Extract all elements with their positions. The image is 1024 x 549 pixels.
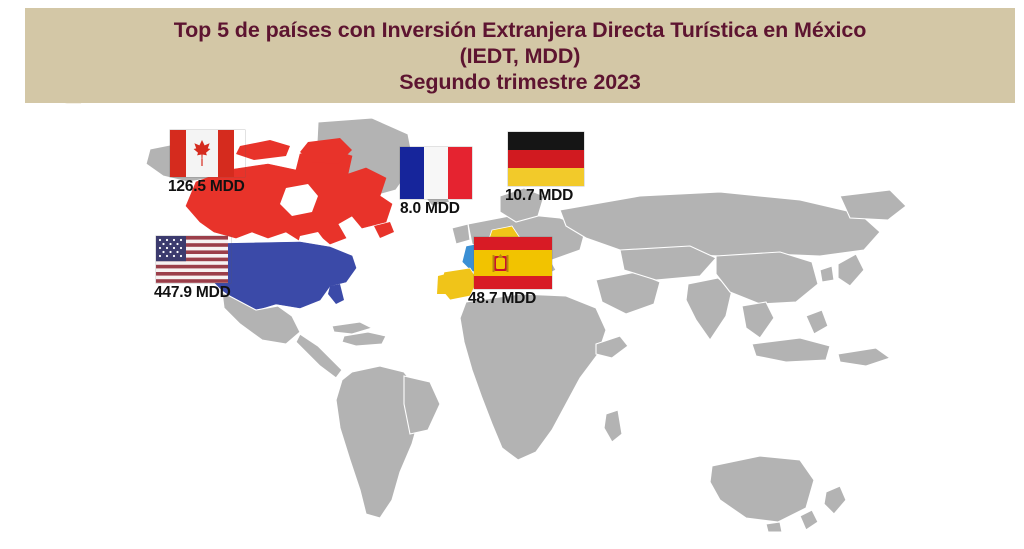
france-value-label: 8.0 MDD xyxy=(400,200,472,217)
title-line-1: Top 5 de países con Inversión Extranjera… xyxy=(174,17,867,43)
portugal xyxy=(437,274,446,294)
usa-value-label: 447.9 MDD xyxy=(154,284,231,301)
spain-value-label: 48.7 MDD xyxy=(468,290,552,307)
canada-value-label: 126.5 MDD xyxy=(168,178,245,195)
marker-france[interactable]: 8.0 MDD xyxy=(400,147,472,217)
spain-coat-of-arms xyxy=(493,254,509,272)
marker-usa[interactable]: 447.9 MDD xyxy=(156,236,231,301)
germany-value-label: 10.7 MDD xyxy=(505,187,584,204)
marker-spain[interactable]: 48.7 MDD xyxy=(474,237,552,307)
title-line-3: Segundo trimestre 2023 xyxy=(399,69,641,95)
marker-canada[interactable]: 126.5 MDD xyxy=(170,130,245,195)
title-banner: Top 5 de países con Inversión Extranjera… xyxy=(25,8,1015,103)
tasmania xyxy=(766,522,782,532)
title-line-2: (IEDT, MDD) xyxy=(460,43,581,69)
british-isles xyxy=(452,224,470,244)
germany-flag xyxy=(508,132,584,186)
united-states-flag xyxy=(156,236,231,283)
france-flag xyxy=(400,147,472,199)
marker-germany[interactable]: 10.7 MDD xyxy=(508,132,584,204)
canada-flag xyxy=(170,130,245,177)
spain-flag xyxy=(474,237,552,289)
slide-root: Top 5 de países con Inversión Extranjera… xyxy=(0,0,1024,549)
